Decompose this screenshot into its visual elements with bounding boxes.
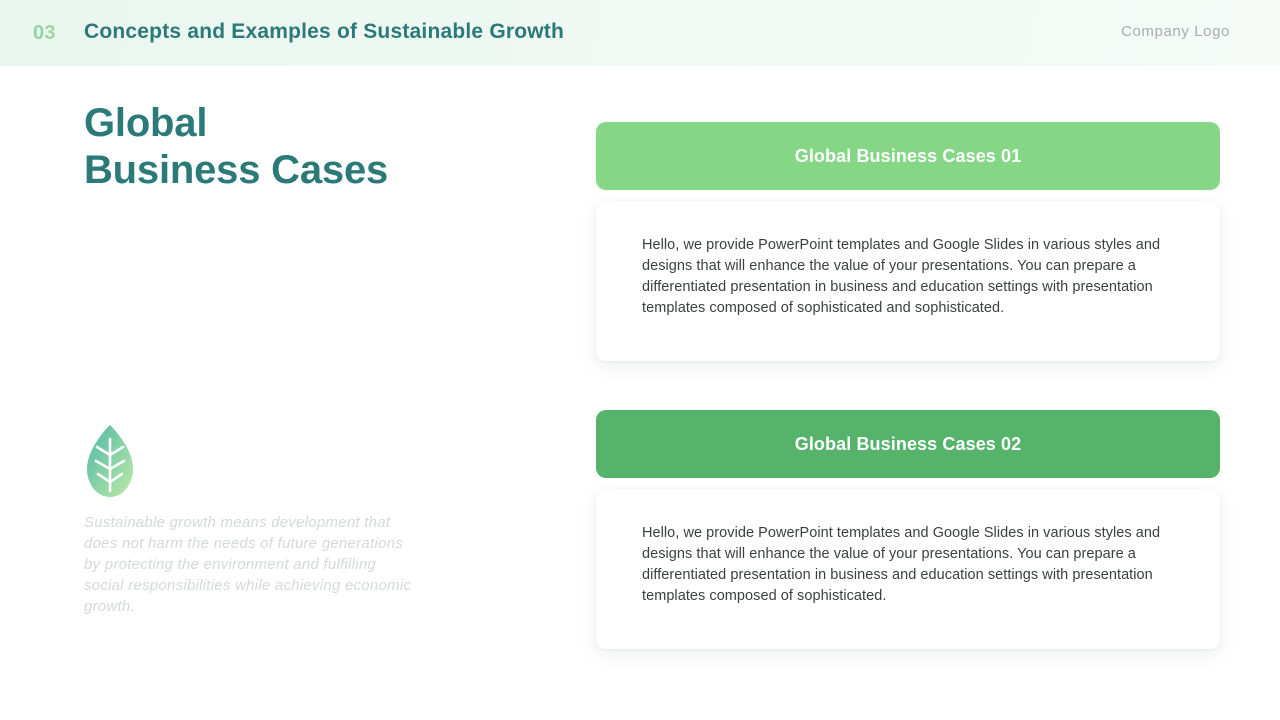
case-2-title: Global Business Cases 02 [795,434,1022,455]
case-1-title: Global Business Cases 01 [795,146,1022,167]
page-title-line-2: Business Cases [84,147,534,194]
case-2-body-text: Hello, we provide PowerPoint templates a… [642,523,1174,607]
slide-canvas: 03 Concepts and Examples of Sustainable … [0,0,1280,720]
header-section-number: 03 [33,22,56,45]
leaf-icon [84,425,136,497]
company-logo-placeholder: Company Logo [1121,23,1230,40]
case-block-2: Global Business Cases 02 Hello, we provi… [596,410,1220,649]
case-1-header-bar[interactable]: Global Business Cases 01 [596,122,1220,190]
case-1-card: Hello, we provide PowerPoint templates a… [596,201,1220,361]
case-2-header-bar[interactable]: Global Business Cases 02 [596,410,1220,478]
sustainability-quote: Sustainable growth means development tha… [84,512,414,617]
case-2-card: Hello, we provide PowerPoint templates a… [596,489,1220,649]
slide-header: 03 Concepts and Examples of Sustainable … [0,0,1280,66]
left-column: Global Business Cases [84,100,534,194]
page-title: Global Business Cases [84,100,534,194]
header-section-title: Concepts and Examples of Sustainable Gro… [84,20,564,44]
case-block-1: Global Business Cases 01 Hello, we provi… [596,122,1220,361]
page-title-line-1: Global [84,100,534,147]
case-1-body-text: Hello, we provide PowerPoint templates a… [642,235,1174,319]
